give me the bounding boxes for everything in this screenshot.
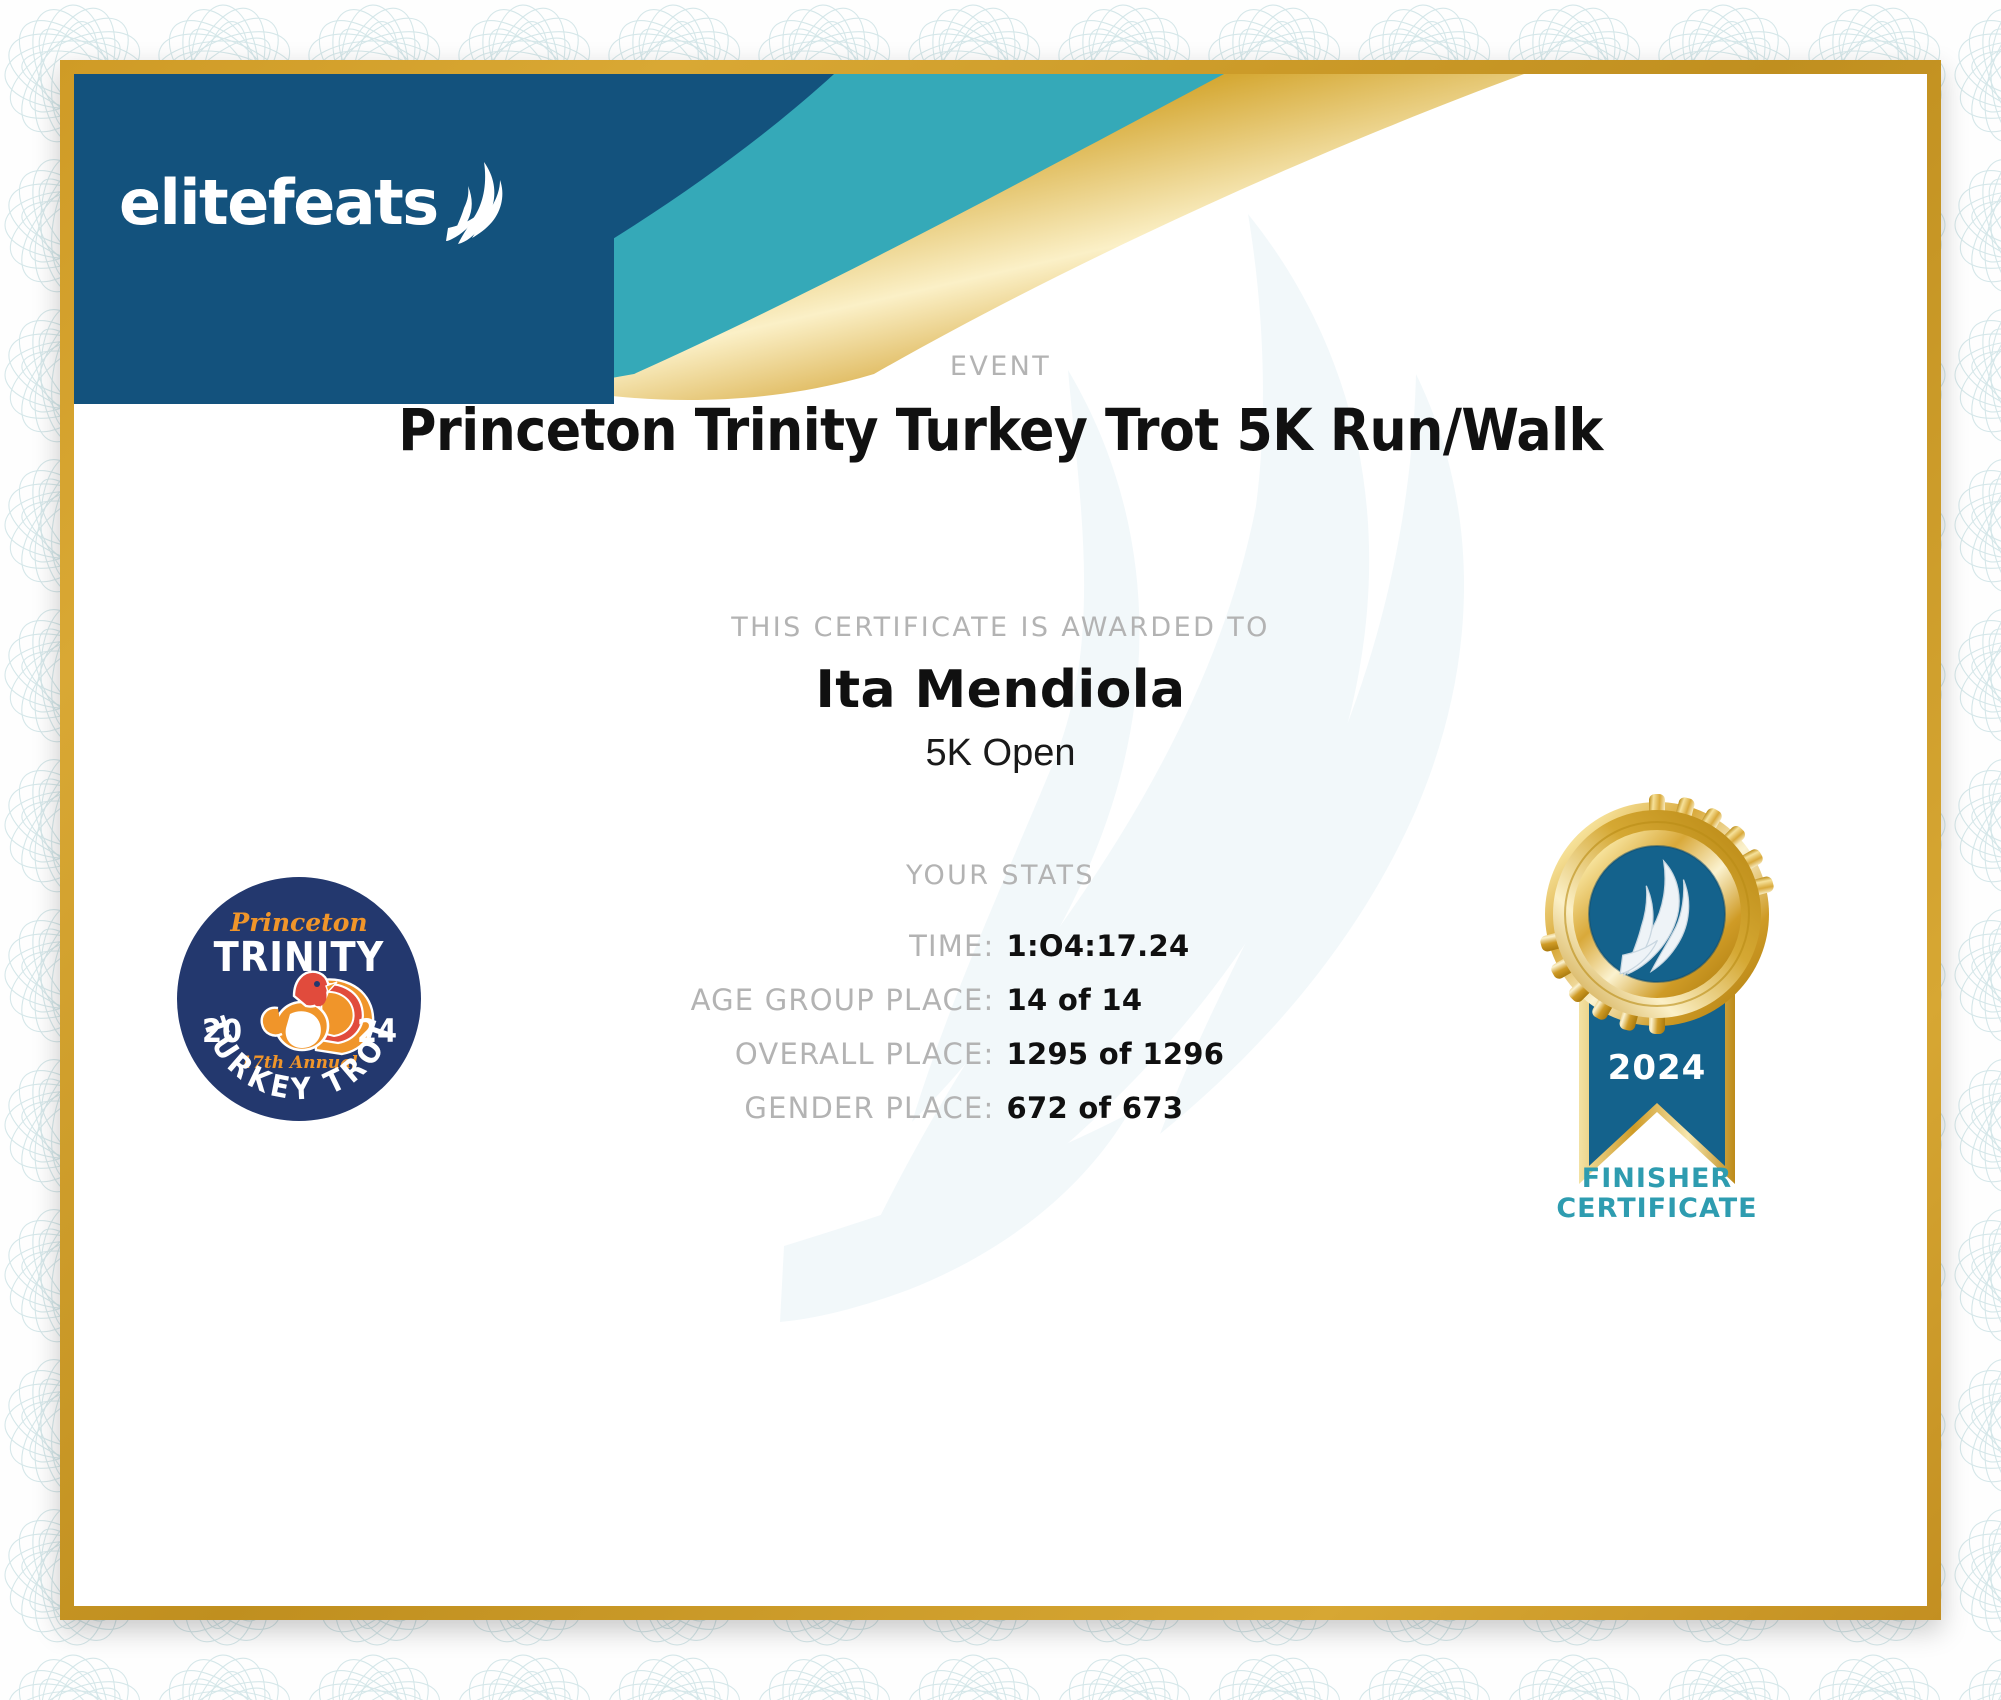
certificate-frame: elitefeats EVENT Princeton Trinity Turke… — [60, 60, 1941, 1620]
brand-wordmark: elitefeats — [119, 172, 438, 234]
race-logo-trinity-text: TRINITY — [214, 933, 385, 981]
event-title: Princeton Trinity Turkey Trot 5K Run/Wal… — [74, 396, 1927, 464]
event-label: EVENT — [74, 351, 1927, 382]
finisher-caption-line1: FINISHER — [1482, 1164, 1832, 1194]
division-name: 5K Open — [74, 732, 1927, 775]
brand-logo: elitefeats — [119, 160, 512, 246]
certificate-page: elitefeats EVENT Princeton Trinity Turke… — [0, 0, 2001, 1700]
stat-label-time: TIME: — [375, 929, 1007, 963]
stat-label-age-group-place: AGE GROUP PLACE: — [375, 983, 1007, 1017]
finisher-caption: FINISHER CERTIFICATE — [1482, 1164, 1832, 1224]
winged-foot-icon — [442, 160, 512, 246]
rosette-medal — [1539, 794, 1775, 1034]
stat-label-overall-place: OVERALL PLACE: — [375, 1037, 1007, 1071]
race-logo-badge: Princeton TRINITY — [174, 874, 424, 1124]
stat-label-gender-place: GENDER PLACE: — [375, 1091, 1007, 1125]
rosette-year: 2024 — [1608, 1048, 1707, 1088]
awarded-to-label: THIS CERTIFICATE IS AWARDED TO — [74, 612, 1927, 643]
certificate-body: elitefeats EVENT Princeton Trinity Turke… — [74, 74, 1927, 1606]
recipient-name: Ita Mendiola — [74, 660, 1927, 720]
finisher-caption-line2: CERTIFICATE — [1482, 1194, 1832, 1224]
